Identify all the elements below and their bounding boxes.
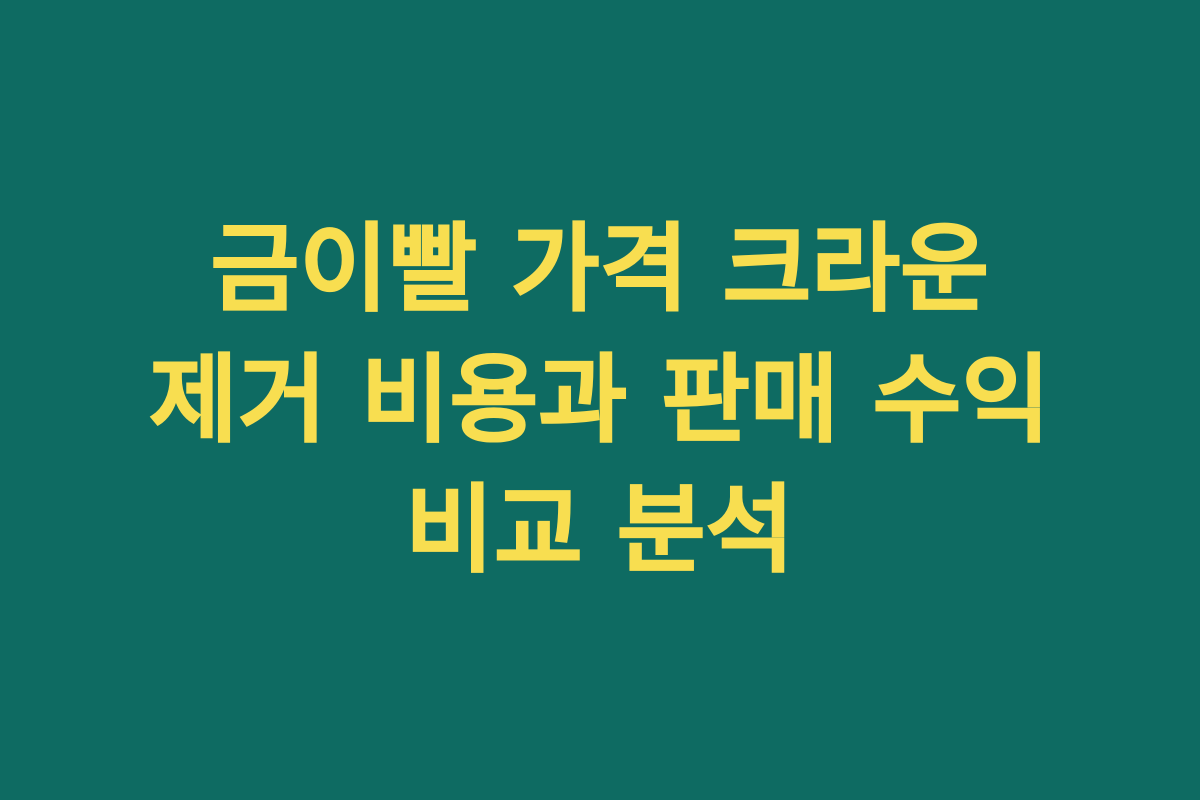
banner-canvas: 금이빨 가격 크라운 제거 비용과 판매 수익 비교 분석 [0, 0, 1200, 800]
page-title: 금이빨 가격 크라운 제거 비용과 판매 수익 비교 분석 [124, 204, 1076, 596]
